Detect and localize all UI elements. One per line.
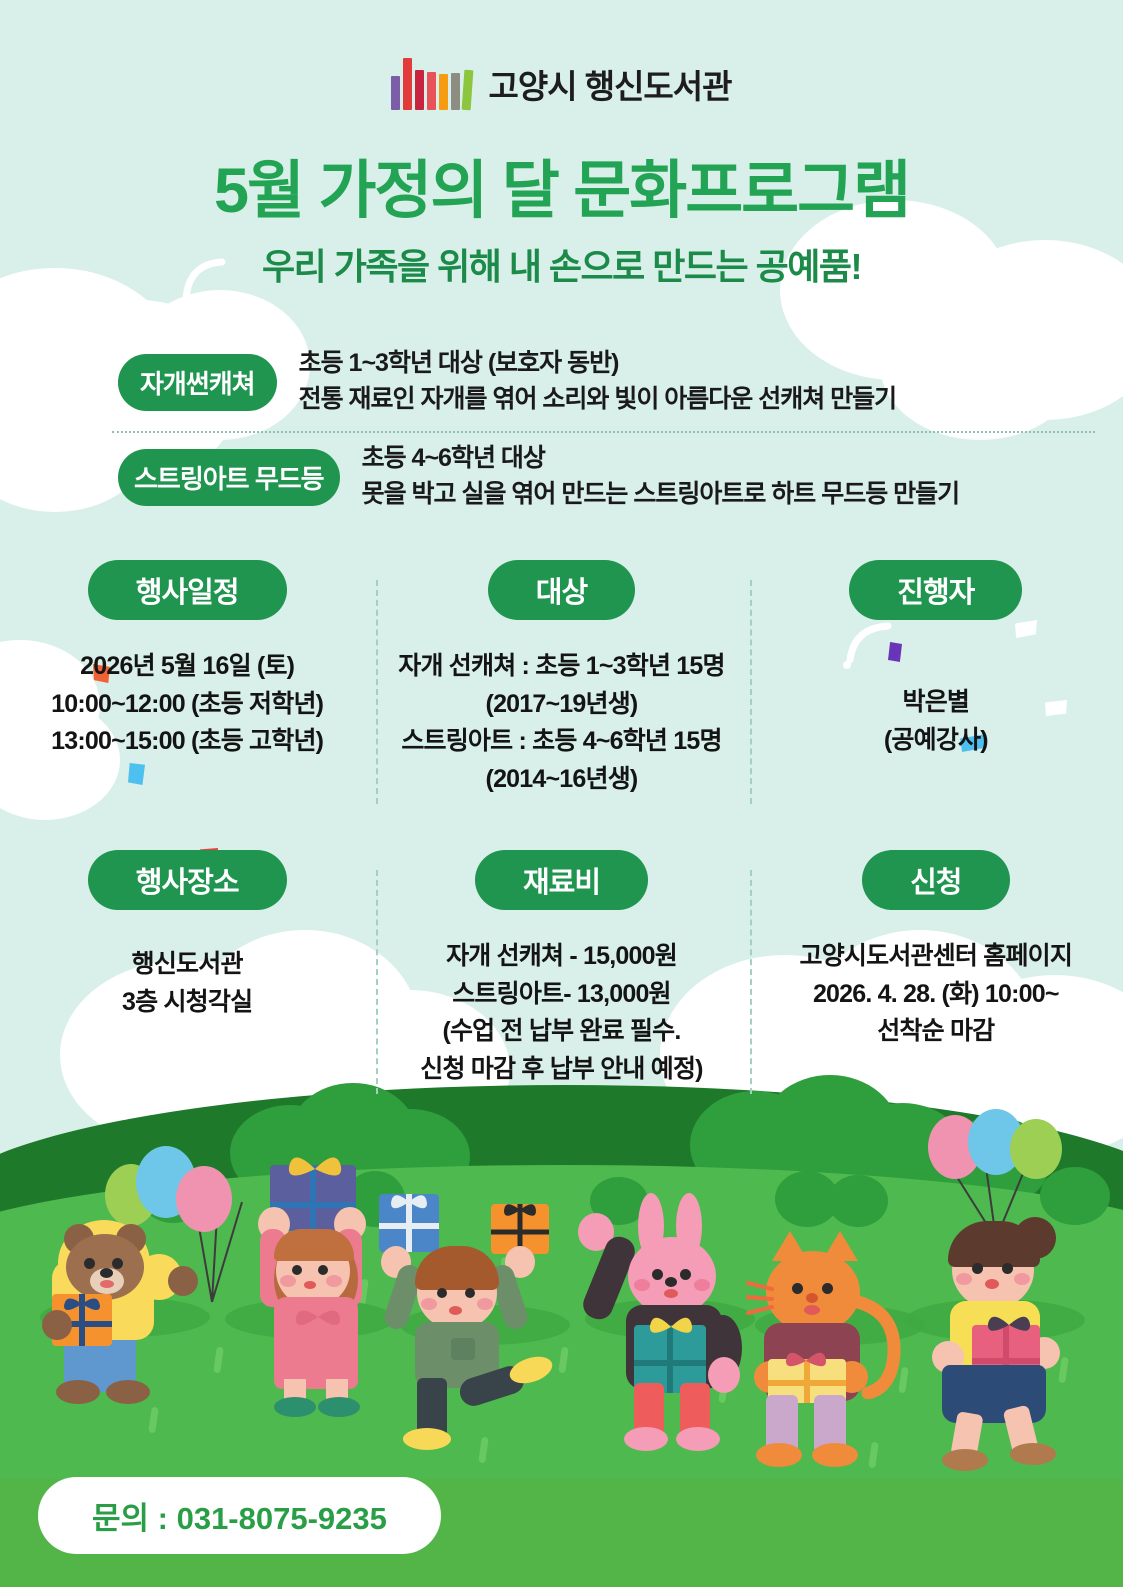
info-heading: 행사장소: [88, 850, 287, 910]
info-body: 박은별 (공예강사): [759, 684, 1113, 759]
bear-mouth: [100, 1280, 114, 1288]
poster: 고양시 행신도서관 5월 가정의 달 문화프로그램 우리 가족을 위해 내 손으…: [0, 0, 1123, 1587]
info-line: 자개 선캐쳐 : 초등 1~3학년 15명: [384, 648, 738, 686]
rabbit-cheek: [634, 1279, 650, 1291]
girl-eye: [1002, 1263, 1013, 1274]
info-line: 3층 시청각실: [10, 984, 364, 1022]
info-line: 10:00~12:00 (초등 저학년): [10, 686, 364, 724]
girl-mouth: [304, 1281, 316, 1289]
info-grid: 행사일정 2026년 5월 16일 (토) 10:00~12:00 (초등 저학…: [0, 560, 1123, 1088]
girl-cheek: [326, 1275, 342, 1287]
cat-eye: [792, 1283, 803, 1294]
bear-eye: [112, 1258, 123, 1269]
program-line: 초등 1~3학년 대상 (보호자 동반): [299, 345, 897, 381]
contact-info: 문의 : 031-8075-9235: [38, 1477, 441, 1554]
program-description: 초등 4~6학년 대상 못을 박고 실을 엮어 만드는 스트링아트로 하트 무드…: [362, 440, 960, 513]
info-heading: 신청: [862, 850, 1009, 910]
info-line: 2026년 5월 16일 (토): [10, 648, 364, 686]
program-badge: 자개썬캐쳐: [118, 354, 277, 411]
girl-eye: [292, 1265, 302, 1275]
rabbit-mouth: [664, 1289, 678, 1298]
info-body: 고양시도서관센터 홈페이지 2026. 4. 28. (화) 10:00~ 선착…: [759, 938, 1113, 1051]
girl-shoe: [1010, 1443, 1056, 1465]
info-heading: 행사일정: [88, 560, 287, 620]
cat-whiskers-icon: [746, 1277, 786, 1323]
balloon-green: [1010, 1119, 1062, 1179]
program-line: 못을 박고 실을 엮어 만드는 스트링아트로 하트 무드등 만들기: [362, 476, 960, 512]
info-row-1: 행사일정 2026년 5월 16일 (토) 10:00~12:00 (초등 저학…: [0, 560, 1123, 798]
shirt-pocket: [451, 1338, 475, 1360]
cat-eye: [822, 1283, 833, 1294]
rabbit-nose: [665, 1277, 677, 1287]
info-line: (수업 전 납부 완료 필수.: [384, 1013, 738, 1051]
gift-bow-icon: [280, 1143, 350, 1183]
info-body: 자개 선캐쳐 - 15,000원 스트링아트- 13,000원 (수업 전 납부…: [384, 938, 738, 1088]
program-badge: 스트링아트 무드등: [118, 449, 340, 506]
dress-bow-icon: [290, 1305, 346, 1339]
info-line: 행신도서관: [10, 946, 364, 984]
girl-hair-front: [274, 1229, 354, 1261]
cat-mouth: [804, 1305, 820, 1315]
info-line: 신청 마감 후 납부 안내 예정): [384, 1051, 738, 1089]
boy-hair: [415, 1246, 499, 1290]
girl-shoe: [274, 1397, 316, 1417]
boy-mouth: [449, 1306, 462, 1315]
rabbit-eye: [652, 1269, 663, 1280]
library-name: 고양시 행신도서관: [488, 60, 731, 108]
rabbit-cheek: [694, 1279, 710, 1291]
info-section-fee: 재료비 자개 선캐쳐 - 15,000원 스트링아트- 13,000원 (수업 …: [374, 850, 748, 1088]
info-line: 스트링아트- 13,000원: [384, 976, 738, 1014]
bear-shoe: [56, 1380, 100, 1404]
program-item-stringart: 스트링아트 무드등 초등 4~6학년 대상 못을 박고 실을 엮어 만드는 스트…: [0, 440, 1123, 513]
character-girl-bun: [910, 1107, 1110, 1407]
character-bear: [50, 1142, 250, 1402]
library-logo: 고양시 행신도서관: [0, 58, 1123, 110]
info-body: 2026년 5월 16일 (토) 10:00~12:00 (초등 저학년) 13…: [10, 648, 364, 761]
info-section-instructor: 진행자 박은별 (공예강사): [749, 560, 1123, 798]
character-girl-pink: [222, 1147, 402, 1402]
boy-cheek: [477, 1298, 493, 1310]
page-title: 5월 가정의 달 문화프로그램: [0, 140, 1123, 231]
info-line: 13:00~15:00 (초등 고학년): [10, 723, 364, 761]
info-divider: [750, 580, 752, 804]
cat-shoe: [756, 1443, 802, 1467]
info-line: 스트링아트 : 초등 4~6학년 15명: [384, 723, 738, 761]
info-divider: [750, 870, 752, 1094]
girl-cheek: [280, 1275, 296, 1287]
character-rabbit: [572, 1165, 772, 1420]
program-description: 초등 1~3학년 대상 (보호자 동반) 전통 재료인 자개를 엮어 소리와 빛…: [299, 345, 897, 418]
program-list: 자개썬캐쳐 초등 1~3학년 대상 (보호자 동반) 전통 재료인 자개를 엮어…: [0, 345, 1123, 512]
girl-cheek: [1014, 1273, 1030, 1285]
info-line: 자개 선캐쳐 - 15,000원: [384, 938, 738, 976]
info-section-audience: 대상 자개 선캐쳐 : 초등 1~3학년 15명 (2017~19년생) 스트링…: [374, 560, 748, 798]
book-spines-icon: [391, 58, 472, 110]
gift-bow-icon: [644, 1307, 698, 1341]
gift-ribbon-icon: [379, 1194, 439, 1252]
girl-cheek: [956, 1273, 972, 1285]
info-line: 선착순 마감: [759, 1013, 1113, 1051]
info-heading: 재료비: [475, 850, 648, 910]
gift-bow-icon: [780, 1343, 832, 1373]
program-item-sungatcher: 자개썬캐쳐 초등 1~3학년 대상 (보호자 동반) 전통 재료인 자개를 엮어…: [0, 345, 1123, 418]
info-line: (2017~19년생): [384, 686, 738, 724]
girl-mouth: [985, 1279, 999, 1289]
rabbit-foot: [676, 1427, 720, 1451]
girl-eye: [972, 1263, 983, 1274]
bear-shoe: [106, 1380, 150, 1404]
info-line: (2014~16년생): [384, 761, 738, 799]
boy-eye: [465, 1288, 475, 1298]
girl-shoe: [318, 1397, 360, 1417]
info-divider: [376, 580, 378, 804]
cat-nose: [806, 1293, 818, 1303]
info-line: 2026. 4. 28. (화) 10:00~: [759, 976, 1113, 1014]
rabbit-hand: [708, 1357, 740, 1393]
program-divider: [112, 431, 1095, 433]
info-line: 박은별: [759, 684, 1113, 722]
rabbit-eye: [680, 1269, 691, 1280]
program-line: 초등 4~6학년 대상: [362, 440, 960, 476]
info-section-schedule: 행사일정 2026년 5월 16일 (토) 10:00~12:00 (초등 저학…: [0, 560, 374, 798]
info-section-application: 신청 고양시도서관센터 홈페이지 2026. 4. 28. (화) 10:00~…: [749, 850, 1123, 1088]
boy-cheek: [421, 1298, 437, 1310]
boy-eye: [437, 1288, 447, 1298]
girl-eye: [318, 1265, 328, 1275]
gift-bow-icon: [982, 1307, 1036, 1339]
character-boy-green: [385, 1172, 585, 1412]
program-line: 전통 재료인 자개를 엮어 소리와 빛이 아름다운 선캐쳐 만들기: [299, 381, 897, 417]
boy-shoe: [403, 1428, 451, 1450]
info-heading: 대상: [488, 560, 635, 620]
info-row-2: 행사장소 행신도서관 3층 시청각실 재료비 자개 선캐쳐 - 15,000원 …: [0, 850, 1123, 1088]
cat-shoe: [812, 1443, 858, 1467]
info-body: 자개 선캐쳐 : 초등 1~3학년 15명 (2017~19년생) 스트링아트 …: [384, 648, 738, 798]
bear-paw: [168, 1266, 198, 1296]
rabbit-head: [628, 1237, 716, 1315]
info-line: (공예강사): [759, 722, 1113, 760]
info-body: 행신도서관 3층 시청각실: [10, 946, 364, 1021]
girl-shoe: [942, 1449, 988, 1471]
bear-nose: [100, 1268, 113, 1278]
info-line: 고양시도서관센터 홈페이지: [759, 938, 1113, 976]
rabbit-foot: [624, 1427, 668, 1451]
info-divider: [376, 870, 378, 1094]
info-heading: 진행자: [849, 560, 1022, 620]
bear-paw: [42, 1310, 72, 1340]
page-subtitle: 우리 가족을 위해 내 손으로 만드는 공예품!: [0, 238, 1123, 290]
info-section-location: 행사장소 행신도서관 3층 시청각실: [0, 850, 374, 1088]
bear-eye: [84, 1258, 95, 1269]
